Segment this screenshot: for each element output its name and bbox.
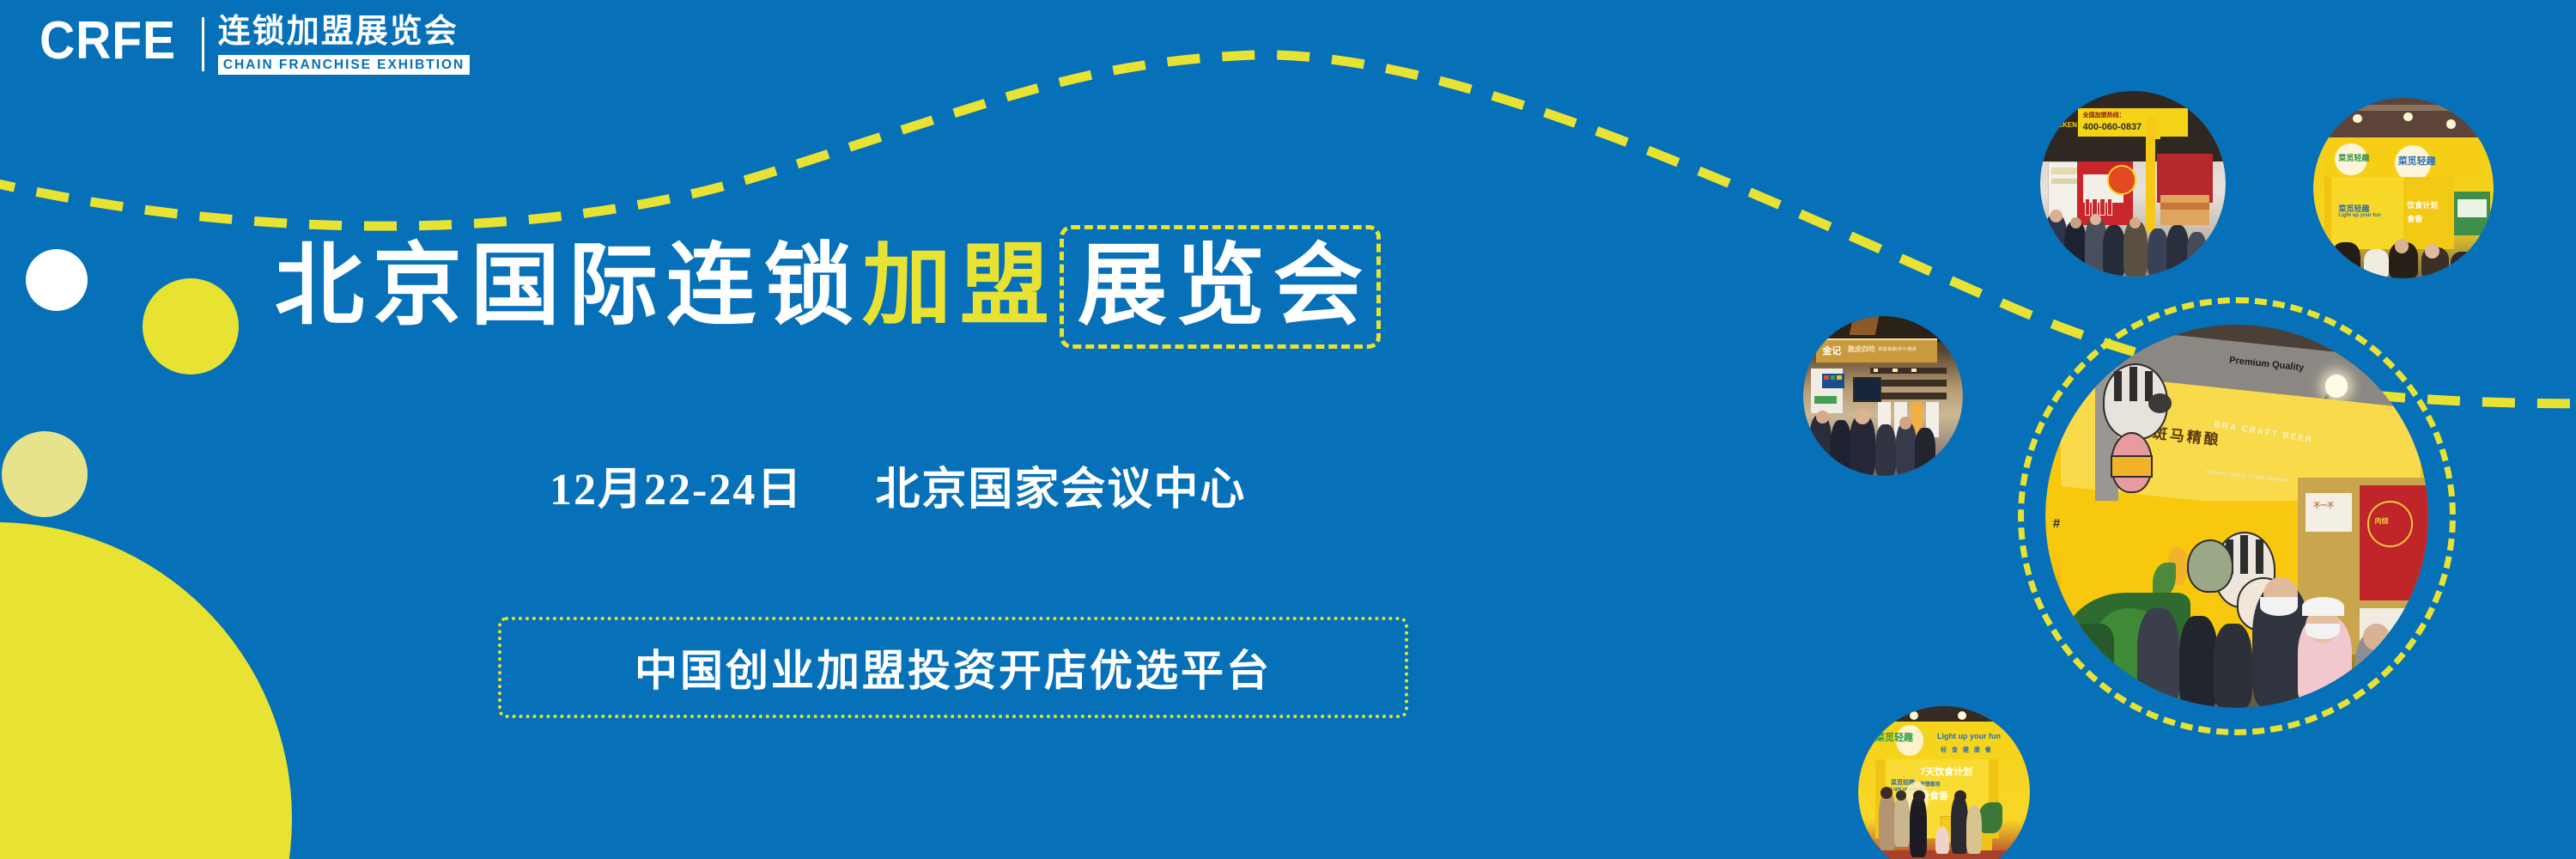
photo-light-meal-booth: 菜觅轻趣 Light up your fun 轻 食 健 康 餐 7天饮食计划 …	[1858, 706, 2030, 859]
photo-zebra-craft-beer: Premium Quality & High Stan… 斑马精酿 BRA CR…	[2045, 325, 2428, 708]
headline-part-primary: 北京国际连锁	[275, 236, 862, 338]
crfe-logo: CRFE 连锁加盟展览会 CHAIN FRANCHISE EXHIBTION	[39, 14, 477, 75]
photo-golden-booth: 金记 脆皮四吃 鲜香/酥脆/多汁/嫩滑	[1803, 316, 1963, 476]
photo-zebra-craft-beer-image: Premium Quality & High Stan… 斑马精酿 BRA CR…	[2045, 325, 2428, 708]
date-venue-line: 12月22-24日 北京国家会议中心	[550, 464, 1246, 517]
logo-divider	[202, 17, 204, 71]
photo-chicken-booth-image: 全国加盟热线： 400-060-0837 CHICKEN	[2040, 91, 2226, 277]
photo-yellow-booth-top-image: 菜觅轻趣 菜觅轻趣 菜觅轻趣 Light up your fun 饮食计划 食香	[2313, 98, 2494, 278]
photo-light-meal-booth-image: 菜觅轻趣 Light up your fun 轻 食 健 康 餐 7天饮食计划 …	[1858, 706, 2030, 859]
main-headline: 北京国际连锁 加盟 展览会	[275, 225, 1381, 349]
crfe-exhibition-banner: CRFE 连锁加盟展览会 CHAIN FRANCHISE EXHIBTION 北…	[0, 0, 2576, 859]
photo-chicken-booth: 全国加盟热线： 400-060-0837 CHICKEN	[2040, 91, 2226, 277]
event-date: 12月22-24日	[550, 466, 803, 515]
photo-golden-booth-image: 金记 脆皮四吃 鲜香/酥脆/多汁/嫩滑	[1803, 316, 1963, 476]
logo-english-name: CHAIN FRANCHISE EXHIBTION	[218, 55, 470, 75]
logo-text-block: 连锁加盟展览会 CHAIN FRANCHISE EXHIBTION	[218, 14, 477, 75]
event-venue: 北京国家会议中心	[875, 466, 1246, 515]
logo-mark-text: CRFE	[39, 14, 178, 75]
tagline-box: 中国创业加盟投资开店优选平台	[498, 617, 1408, 718]
headline-part-highlight: 加盟	[862, 236, 1058, 338]
photo-yellow-booth-top: 菜觅轻趣 菜觅轻趣 菜觅轻趣 Light up your fun 饮食计划 食香	[2313, 98, 2494, 278]
tagline-text: 中国创业加盟投资开店优选平台	[635, 637, 1272, 698]
headline-part-boxed: 展览会	[1060, 225, 1381, 349]
logo-chinese-name: 连锁加盟展览会	[218, 14, 477, 50]
